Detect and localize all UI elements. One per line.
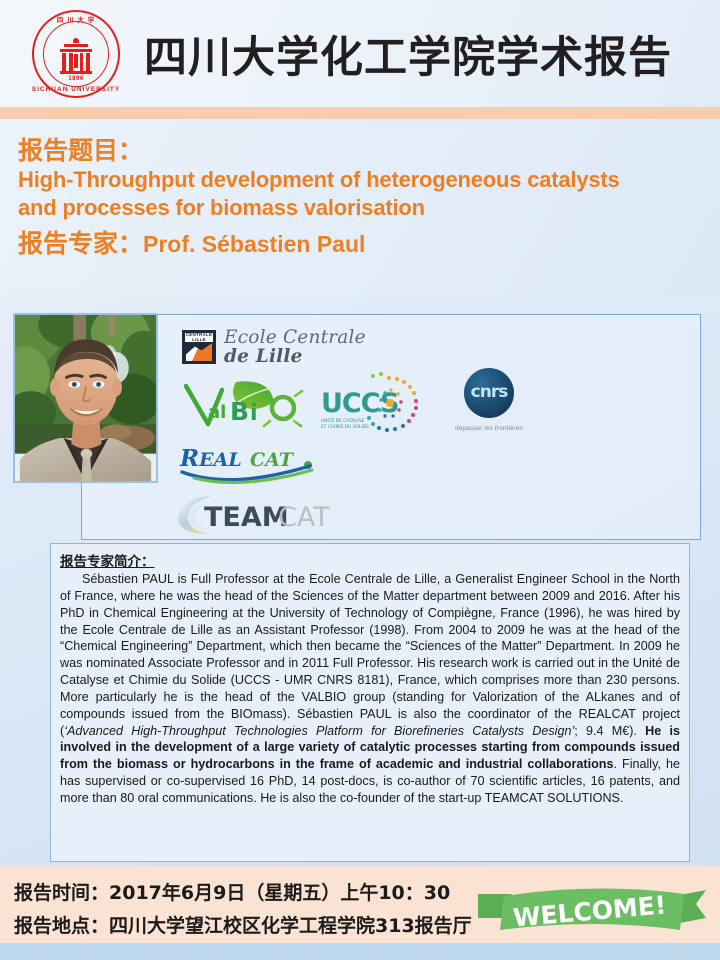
event-time-line: 报告时间：2017年6月9日（星期五）上午10：30 [14,878,450,905]
poster-header-title: 四川大学化工学院学术报告 [144,23,672,85]
cnrs-logo: cnrs dépasser les frontières [435,368,543,440]
bottom-accent-strip [0,943,720,960]
realcat-logo: REAL CAT [178,442,328,488]
uccs-logo: UCCS UNITÉ DE CATALYSE ET CHIMIE DU SOLI… [315,370,427,436]
realcat-part2: CAT [250,449,295,471]
centrale-lille-mark-icon: CENTRALE LILLE [182,330,216,364]
seal-arch-bottom-text: SICHUAN UNIVERSITY [30,86,122,93]
event-venue-line: 报告地点：四川大学望江校区化学工程学院313报告厅 [14,911,472,938]
cnrs-wordmark: cnrs [464,382,514,402]
title-block: 报告题目： High-Throughput development of het… [0,119,720,295]
ecole-centrale-line1: Ecole Centrale [224,328,366,347]
logo-row-group: CENTRALE LILLE Ecole Centrale de Lille [160,314,580,540]
speaker-name: Prof. Sébastien Paul [143,231,365,257]
svg-text:i: i [250,401,258,426]
speaker-line: 报告专家：Prof. Sébastien Paul [18,228,702,261]
poster-header: 四 川 大 学 1896 SICHUAN UNIVERSITY 四川大学化工学院… [0,0,720,107]
svg-text:al: al [208,402,226,423]
speaker-portrait-image [15,315,156,481]
ecole-centrale-line2: de Lille [224,347,366,366]
bio-heading: 报告专家简介： [60,550,680,570]
seminar-poster: 四 川 大 学 1896 SICHUAN UNIVERSITY 四川大学化工学院… [0,0,720,960]
header-divider-band [0,107,720,119]
cnrs-tagline: dépasser les frontières [435,425,543,432]
teamcat-part1: TEAM [204,502,289,533]
sichuan-university-seal-icon: 四 川 大 学 1896 SICHUAN UNIVERSITY [30,8,122,100]
welcome-ribbon: WELCOME! [478,880,706,942]
uccs-subtitle-line2: ET CHIMIE DU SOLIDE [321,424,369,430]
ecole-centrale-wordmark: Ecole Centrale de Lille [224,328,366,366]
svg-text:B: B [230,397,249,426]
teamcat-logo: TEAM CAT [168,490,338,538]
ecole-centrale-de-lille-logo: CENTRALE LILLE Ecole Centrale de Lille [182,328,366,366]
speaker-label: 报告专家： [18,229,143,258]
centrale-lille-mark-label: CENTRALE LILLE [185,333,213,342]
speaker-portrait [13,313,158,483]
seal-arch-top-text: 四 川 大 学 [30,14,122,24]
speaker-bio-box: 报告专家简介： Sébastien PAUL is Full Professor… [50,543,690,862]
topic-title-line1: High-Throughput development of heterogen… [18,167,702,194]
valbio-logo: al B i [178,376,310,434]
realcat-part1: REAL [179,445,242,472]
seal-gate-glyph [56,38,96,76]
cnrs-disc-icon: cnrs [464,368,514,418]
teamcat-part2: CAT [278,502,330,533]
topic-label: 报告题目： [18,135,702,166]
bio-paragraph: Sébastien PAUL is Full Professor at the … [60,571,680,807]
seal-year: 1896 [30,76,122,82]
topic-title-line2: and processes for biomass valorisation [18,195,702,222]
